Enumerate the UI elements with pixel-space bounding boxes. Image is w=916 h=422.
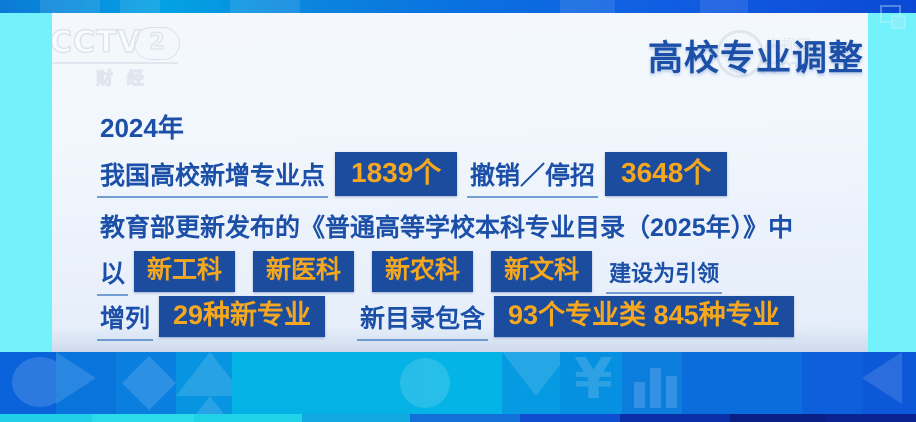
discipline-chip-0: 新工科 (134, 251, 235, 292)
discipline-chip-3: 新文科 (491, 251, 592, 292)
document-text: 教育部更新发布的《普通高等学校本科专业目录（2025年）》中 (100, 208, 793, 244)
banner-tile (116, 352, 176, 414)
cctv2-logo: CCTV 2 财经 (50, 26, 190, 84)
banner-tile (802, 352, 862, 414)
bottom-decorative-banner: ¥ (0, 352, 916, 422)
catalog-label: 新目录包含 (360, 299, 485, 335)
left-cyan-rail (0, 13, 52, 352)
row-year: 2024年 (100, 108, 184, 145)
banner-footer-strip (0, 414, 916, 422)
discipline-chip-2: 新农科 (372, 251, 473, 292)
row-new-majors: 我国高校新增专业点 1839个 (100, 152, 457, 196)
cancelled-label: 撤销／停招 (470, 156, 595, 192)
banner-tile (862, 352, 916, 414)
banner-tile (0, 352, 56, 414)
disciplines-suffix: 建设为引领 (609, 256, 719, 288)
new-majors-label: 我国高校新增专业点 (100, 156, 325, 192)
discipline-chip-1: 新医科 (253, 251, 354, 292)
banner-tile (176, 352, 232, 414)
banner-tile (502, 352, 560, 414)
page-title: 高校专业调整 (648, 30, 864, 81)
row-cancelled: 撤销／停招 3648个 (470, 152, 727, 196)
channel-subtitle: 财经 (72, 64, 182, 89)
cancelled-value: 3648个 (605, 152, 727, 196)
broadcast-graphic: CCTV 2 财经 高校专业调整 央视网 .com 2024年 我国高校新增专业… (0, 0, 916, 422)
new-majors-value: 1839个 (335, 152, 457, 196)
disciplines-prefix: 以 (100, 254, 125, 290)
banner-tile (422, 352, 502, 414)
catalog-value: 93个专业类 845种专业 (494, 296, 794, 337)
added-value: 29种新专业 (159, 296, 325, 337)
row-added: 增列 29种新专业 (100, 296, 325, 337)
row-catalog: 新目录包含 93个专业类 845种专业 (360, 296, 794, 337)
top-accent-strip (0, 0, 916, 13)
banner-tile (682, 352, 802, 414)
banner-tile (622, 352, 682, 414)
channel-number-badge: 2 (134, 27, 180, 60)
row-disciplines: 以 新工科 新医科 新农科 新文科 建设为引领 (100, 251, 719, 292)
channel-number: 2 (135, 28, 179, 57)
added-label: 增列 (100, 299, 150, 335)
banner-tile: ¥ (560, 352, 622, 414)
right-cyan-rail (868, 13, 916, 352)
banner-tile (232, 352, 422, 414)
year-label: 2024年 (100, 108, 184, 145)
banner-tile (56, 352, 116, 414)
row-document: 教育部更新发布的《普通高等学校本科专业目录（2025年）》中 (100, 208, 793, 244)
